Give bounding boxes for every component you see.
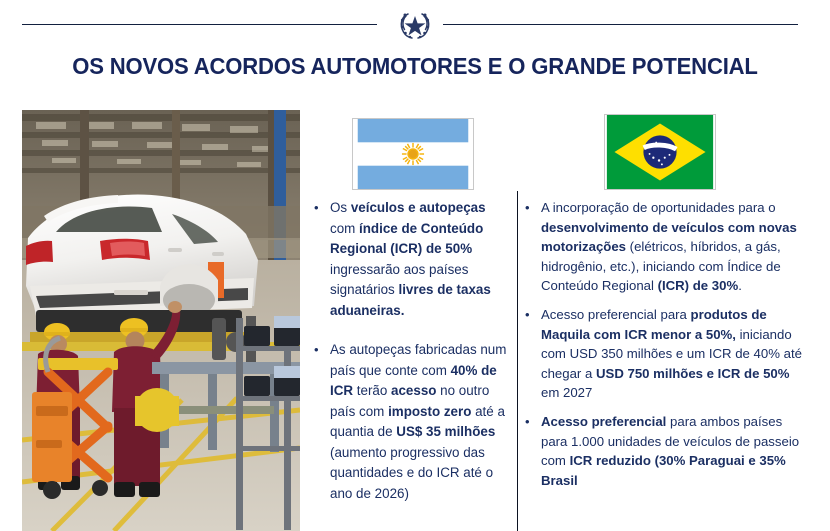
list-item: • Acesso preferencial para produtos de M… xyxy=(525,305,807,403)
column-divider xyxy=(517,191,518,531)
argentina-flag xyxy=(352,118,474,190)
bullet-marker: • xyxy=(525,305,541,325)
bullet-marker: • xyxy=(314,198,330,219)
bullet-text: Os veículos e autopeças com índice de Co… xyxy=(330,198,510,321)
spacer xyxy=(525,403,807,412)
bullet-text: A incorporação de oportunidades para o d… xyxy=(541,198,807,296)
bullet-text: As autopeças fabricadas num país que con… xyxy=(330,340,510,504)
top-rule-left xyxy=(22,24,377,25)
list-item: • Acesso preferencial para ambos países … xyxy=(525,412,807,490)
bullet-marker: • xyxy=(525,198,541,218)
list-item: • A incorporação de oportunidades para o… xyxy=(525,198,807,296)
brazil-flag xyxy=(604,114,716,190)
page-title: OS NOVOS ACORDOS AUTOMOTORES E O GRANDE … xyxy=(25,53,805,80)
top-rule-right xyxy=(443,24,798,25)
automotive-assembly-line-photo xyxy=(22,110,300,531)
slide-canvas: OS NOVOS ACORDOS AUTOMOTORES E O GRANDE … xyxy=(0,0,830,531)
bullet-marker: • xyxy=(314,340,330,361)
bullet-column-right: • A incorporação de oportunidades para o… xyxy=(525,198,807,490)
bullet-text: Acesso preferencial para ambos países pa… xyxy=(541,412,807,490)
star-laurel-wreath-emblem xyxy=(395,7,435,43)
bullet-column-middle: • Os veículos e autopeças com índice de … xyxy=(314,198,510,504)
list-item: • Os veículos e autopeças com índice de … xyxy=(314,198,510,321)
bullet-text: Acesso preferencial para produtos de Maq… xyxy=(541,305,807,403)
spacer xyxy=(525,296,807,305)
bullet-marker: • xyxy=(525,412,541,432)
list-item: • As autopeças fabricadas num país que c… xyxy=(314,340,510,504)
spacer xyxy=(314,321,510,340)
